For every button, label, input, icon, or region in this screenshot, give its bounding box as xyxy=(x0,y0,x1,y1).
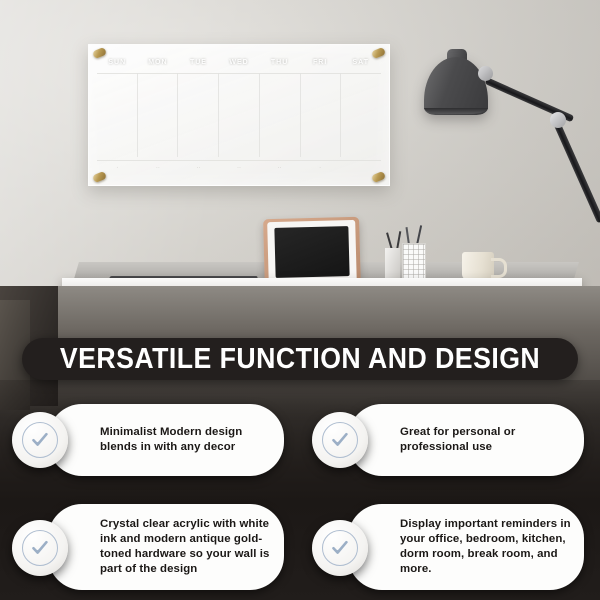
calendar-column xyxy=(177,73,218,157)
calendar-day-headers: SUN MON TUE WED THU FRI SAT xyxy=(97,55,381,71)
headline-text: VERSATILE FUNCTION AND DESIGN xyxy=(60,343,540,376)
feature-callout-grid: Minimalist Modern design blends in with … xyxy=(0,398,600,594)
calendar-column xyxy=(259,73,300,157)
calendar-mark: ·· xyxy=(178,165,219,171)
acrylic-calendar-board: SUN MON TUE WED THU FRI SAT xyxy=(88,44,390,186)
day-header-fri: FRI xyxy=(300,55,341,71)
calendar-mark: ·· xyxy=(259,165,300,171)
tablet-screen xyxy=(274,226,349,278)
lamp-head-joint xyxy=(478,66,493,81)
day-header-thu: THU xyxy=(259,55,300,71)
day-header-wed: WED xyxy=(219,55,260,71)
gold-standoff-icon xyxy=(92,171,107,183)
feature-pill: Display important reminders in your offi… xyxy=(348,504,584,590)
calendar-column xyxy=(218,73,259,157)
feature-callout-3: Crystal clear acrylic with white ink and… xyxy=(0,498,300,592)
feature-text: Crystal clear acrylic with white ink and… xyxy=(100,517,272,578)
check-ring xyxy=(22,422,58,458)
feature-text: Great for personal or professional use xyxy=(400,425,572,455)
calendar-mark: ·· xyxy=(138,165,179,171)
day-header-mon: MON xyxy=(138,55,179,71)
feature-pill: Minimalist Modern design blends in with … xyxy=(48,404,284,476)
calendar-mark: · xyxy=(97,165,138,171)
headline-banner: VERSATILE FUNCTION AND DESIGN xyxy=(22,338,578,380)
lamp-elbow-joint xyxy=(550,112,566,128)
pencil-holder xyxy=(402,243,426,281)
feature-callout-1: Minimalist Modern design blends in with … xyxy=(0,398,300,492)
calendar-bottom-rule xyxy=(97,160,381,161)
calendar-column-grid xyxy=(97,73,381,157)
pen-cup xyxy=(385,248,400,280)
calendar-mark: ·· xyxy=(219,165,260,171)
calendar-column xyxy=(340,73,381,157)
feature-callout-2: Great for personal or professional use xyxy=(300,398,600,492)
check-ring xyxy=(322,530,358,566)
calendar-board-inner: SUN MON TUE WED THU FRI SAT xyxy=(97,55,381,175)
coffee-mug xyxy=(462,252,494,280)
check-circle-icon xyxy=(312,520,368,576)
day-header-tue: TUE xyxy=(178,55,219,71)
calendar-mark xyxy=(340,165,381,171)
check-mark-icon xyxy=(329,429,351,451)
lamp-shade-lip xyxy=(424,108,488,114)
feature-row-1: Minimalist Modern design blends in with … xyxy=(0,398,600,492)
check-mark-icon xyxy=(29,537,51,559)
feature-text: Display important reminders in your offi… xyxy=(400,517,572,578)
calendar-column xyxy=(137,73,178,157)
feature-callout-4: Display important reminders in your offi… xyxy=(300,498,600,592)
gold-standoff-icon xyxy=(371,47,386,59)
calendar-column xyxy=(300,73,341,157)
check-mark-icon xyxy=(329,537,351,559)
mug-handle xyxy=(491,258,507,278)
check-circle-icon xyxy=(12,412,68,468)
check-ring xyxy=(322,422,358,458)
calendar-column xyxy=(97,73,137,157)
product-feature-graphic: SUN MON TUE WED THU FRI SAT xyxy=(0,0,600,600)
check-circle-icon xyxy=(312,412,368,468)
calendar-mark: · xyxy=(300,165,341,171)
check-circle-icon xyxy=(12,520,68,576)
check-mark-icon xyxy=(29,429,51,451)
feature-row-2: Crystal clear acrylic with white ink and… xyxy=(0,498,600,592)
feature-pill: Great for personal or professional use xyxy=(348,404,584,476)
feature-pill: Crystal clear acrylic with white ink and… xyxy=(48,504,284,590)
feature-text: Minimalist Modern design blends in with … xyxy=(100,425,272,455)
calendar-footer-marks: · ·· ·· ·· ·· · xyxy=(97,165,381,171)
day-header-sun: SUN xyxy=(97,55,138,71)
check-ring xyxy=(22,530,58,566)
